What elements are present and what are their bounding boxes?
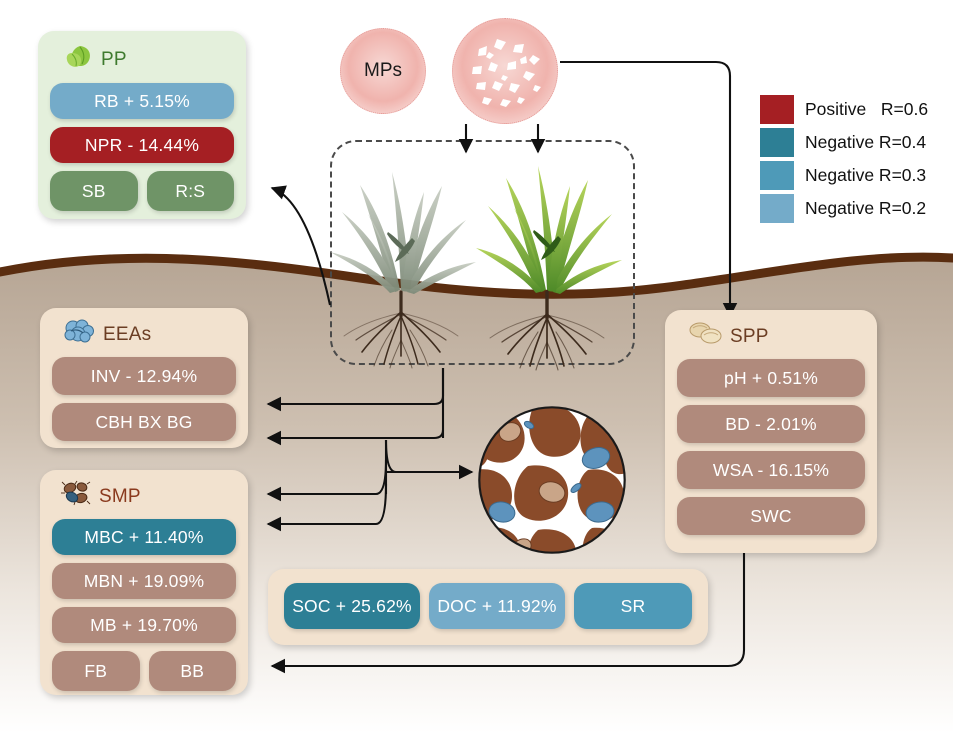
panel-pp-title: PP: [101, 50, 127, 69]
legend-item: Negative R=0.4: [760, 126, 928, 159]
panel-carbon: SOC + 25.62% DOC + 11.92% SR: [268, 569, 708, 645]
legend-label: Positive R=0.6: [805, 99, 928, 120]
pill-doc[interactable]: DOC + 11.92%: [429, 583, 565, 629]
panel-spp: SPP pH + 0.51% BD - 2.01% WSA - 16.15% S…: [665, 310, 877, 553]
legend-label: Negative R=0.2: [805, 198, 926, 219]
panel-pp-header: PP: [64, 43, 234, 75]
panel-spp-title: SPP: [730, 327, 769, 346]
smp-row-1: MBN + 19.09%: [52, 563, 236, 599]
microbe-icon: [60, 480, 92, 512]
pill-inv[interactable]: INV - 12.94%: [52, 357, 236, 395]
mps-source-circle: MPs: [340, 28, 426, 114]
pill-sr[interactable]: SR: [574, 583, 692, 629]
pill-rb[interactable]: RB + 5.15%: [50, 83, 234, 119]
panel-eeas: EEAs INV - 12.94% CBH BX BG: [40, 308, 248, 448]
spp-row-1: BD - 2.01%: [677, 405, 865, 443]
panel-smp: SMP MBC + 11.40% MBN + 19.09% MB + 19.70…: [40, 470, 248, 695]
pill-mb[interactable]: MB + 19.70%: [52, 607, 236, 643]
pill-bb[interactable]: BB: [149, 651, 237, 691]
legend-swatch-negative-03: [760, 161, 794, 190]
legend-swatch-negative-04: [760, 128, 794, 157]
pill-cbh-bx-bg[interactable]: CBH BX BG: [52, 403, 236, 441]
pill-fb[interactable]: FB: [52, 651, 140, 691]
pill-ph[interactable]: pH + 0.51%: [677, 359, 865, 397]
carbon-row-0: SOC + 25.62% DOC + 11.92% SR: [284, 583, 692, 629]
pill-mbn[interactable]: MBN + 19.09%: [52, 563, 236, 599]
panel-pp: PP RB + 5.15% NPR - 14.44% SB R:S: [38, 31, 246, 219]
smp-row-2: MB + 19.70%: [52, 607, 236, 643]
smp-row-0: MBC + 11.40%: [52, 519, 236, 555]
spp-row-2: WSA - 16.15%: [677, 451, 865, 489]
panel-smp-title: SMP: [99, 487, 141, 506]
pill-npr[interactable]: NPR - 14.44%: [50, 127, 234, 163]
legend-item: Positive R=0.6: [760, 93, 928, 126]
pill-swc[interactable]: SWC: [677, 497, 865, 535]
soil-aggregate-icon: [687, 320, 723, 352]
plant-treatment-box: [330, 140, 635, 365]
spp-row-0: pH + 0.51%: [677, 359, 865, 397]
pill-mbc[interactable]: MBC + 11.40%: [52, 519, 236, 555]
panel-eeas-header: EEAs: [62, 318, 236, 350]
pp-row-1: NPR - 14.44%: [50, 127, 234, 163]
leaf-icon: [64, 43, 94, 75]
pp-row-0: RB + 5.15%: [50, 83, 234, 119]
panel-smp-header: SMP: [60, 480, 236, 512]
pill-bd[interactable]: BD - 2.01%: [677, 405, 865, 443]
panel-eeas-title: EEAs: [103, 325, 151, 344]
pill-rs[interactable]: R:S: [147, 171, 235, 211]
legend-label: Negative R=0.4: [805, 132, 926, 153]
mps-label: MPs: [364, 60, 402, 82]
legend-swatch-negative-02: [760, 194, 794, 223]
legend-item: Negative R=0.2: [760, 192, 928, 225]
spp-row-3: SWC: [677, 497, 865, 535]
diagram-canvas: MPs: [0, 0, 953, 733]
eeas-row-0: INV - 12.94%: [52, 357, 236, 395]
legend-swatch-positive-06: [760, 95, 794, 124]
pill-wsa[interactable]: WSA - 16.15%: [677, 451, 865, 489]
pill-soc[interactable]: SOC + 25.62%: [284, 583, 420, 629]
legend-item: Negative R=0.3: [760, 159, 928, 192]
correlation-legend: Positive R=0.6 Negative R=0.4 Negative R…: [760, 93, 928, 225]
microplastic-fragments-icon: [453, 19, 557, 123]
mps-particle-circle: [452, 18, 558, 124]
pp-row-2: SB R:S: [50, 171, 234, 211]
eeas-row-1: CBH BX BG: [52, 403, 236, 441]
pill-sb[interactable]: SB: [50, 171, 138, 211]
legend-label: Negative R=0.3: [805, 165, 926, 186]
smp-row-3: FB BB: [52, 651, 236, 691]
panel-spp-header: SPP: [687, 320, 865, 352]
enzyme-cloud-icon: [62, 318, 96, 350]
